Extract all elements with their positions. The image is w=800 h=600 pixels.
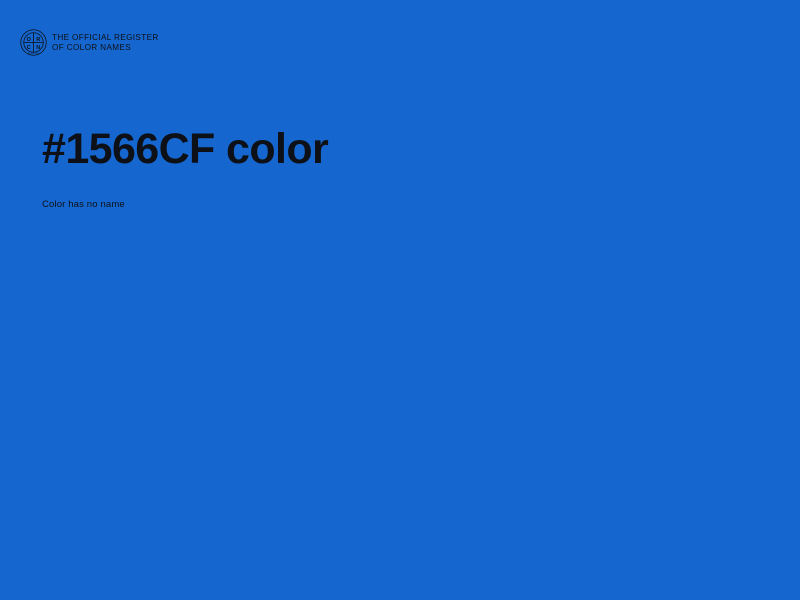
color-page: O R C N REGISTER THE OFFICIAL REGISTER O… [0,0,800,600]
svg-text:O: O [27,37,32,43]
svg-text:N: N [36,45,40,51]
brand-line-2: OF COLOR NAMES [52,43,159,53]
brand-lockup[interactable]: O R C N REGISTER THE OFFICIAL REGISTER O… [20,29,159,56]
color-name-status: Color has no name [42,174,742,212]
brand-line-1: THE OFFICIAL REGISTER [52,33,159,43]
page-title: #1566CF color [42,124,742,174]
svg-text:C: C [27,45,31,51]
svg-text:REGISTER: REGISTER [28,53,40,55]
register-seal-icon: O R C N REGISTER [20,29,47,56]
brand-wordmark: THE OFFICIAL REGISTER OF COLOR NAMES [52,33,159,52]
color-detail-block: #1566CF color Color has no name [42,124,742,212]
svg-text:R: R [36,37,40,43]
